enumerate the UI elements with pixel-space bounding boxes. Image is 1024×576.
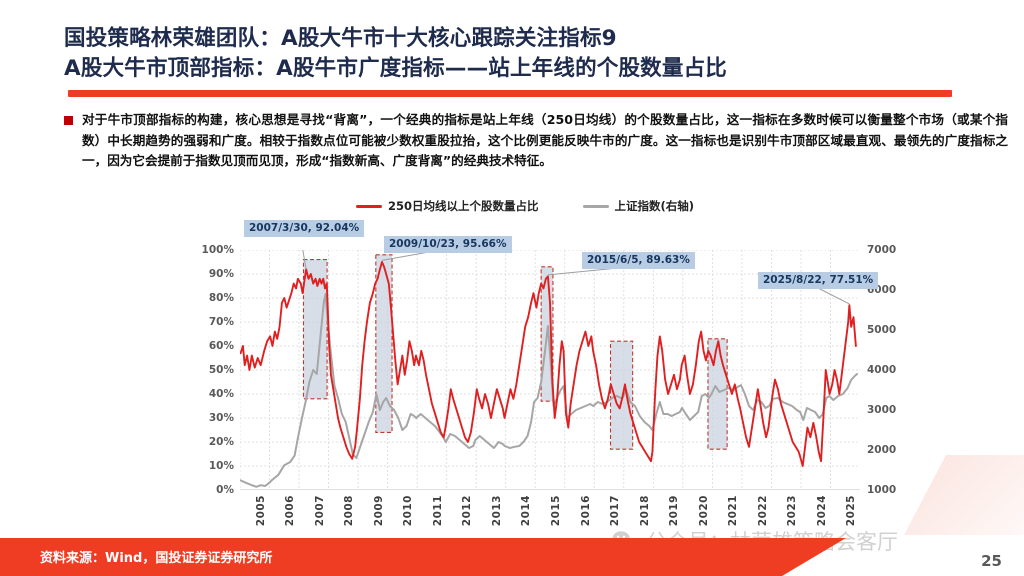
- x-tick-year: 2007: [314, 495, 326, 526]
- legend-label-index: 上证指数(右轴): [615, 198, 695, 214]
- y-tick-left: 60%: [209, 340, 234, 352]
- title-line-2: A股大牛市顶部指标：A股牛市广度指标——站上年线的个股数量占比: [64, 54, 1004, 84]
- chart-annotation: 2009/10/23, 95.66%: [384, 236, 512, 253]
- x-tick-year: 2024: [816, 495, 828, 526]
- square-bullet-icon: [64, 116, 73, 125]
- y-tick-right: 5000: [867, 324, 896, 336]
- plot-area: 0%10%20%30%40%50%60%70%80%90%100% 100020…: [240, 250, 860, 490]
- body-paragraph: 对于牛市顶部指标的构建，核心思想是寻找“背离”，一个经典的指标是站上年线（250…: [82, 110, 1008, 172]
- y-tick-right: 2000: [867, 444, 896, 456]
- x-tick-year: 2015: [550, 495, 562, 526]
- legend-item-index: 上证指数(右轴): [583, 198, 695, 214]
- body-paragraph-row: 对于牛市顶部指标的构建，核心思想是寻找“背离”，一个经典的指标是站上年线（250…: [64, 110, 1008, 172]
- x-tick-year: 2025: [845, 495, 857, 526]
- legend-swatch-index: [583, 205, 609, 208]
- y-tick-right: 3000: [867, 404, 896, 416]
- x-tick-year: 2012: [461, 495, 473, 526]
- x-tick-year: 2008: [343, 495, 355, 526]
- page-title: 国投策略林荣雄团队：A股大牛市十大核心跟踪关注指标9 A股大牛市顶部指标：A股牛…: [64, 24, 1004, 84]
- x-tick-year: 2014: [520, 495, 532, 526]
- y-tick-left: 40%: [209, 388, 234, 400]
- x-tick-year: 2013: [491, 495, 503, 526]
- x-tick-year: 2006: [284, 495, 296, 526]
- x-tick-year: 2019: [668, 495, 680, 526]
- y-tick-left: 90%: [209, 268, 234, 280]
- chart-annotation: 2015/6/5, 89.63%: [582, 252, 695, 269]
- y-tick-left: 20%: [209, 436, 234, 448]
- y-tick-left: 100%: [202, 244, 234, 256]
- x-tick-year: 2011: [432, 495, 444, 526]
- y-tick-left: 10%: [209, 460, 234, 472]
- legend-label-breadth: 250日均线以上个股数量占比: [388, 198, 539, 214]
- x-tick-year: 2009: [373, 495, 385, 526]
- y-tick-right: 4000: [867, 364, 896, 376]
- chart-annotation: 2025/8/22, 77.51%: [758, 272, 878, 289]
- chart-annotation: 2007/3/30, 92.04%: [244, 220, 364, 237]
- title-line-1: 国投策略林荣雄团队：A股大牛市十大核心跟踪关注指标9: [64, 24, 1004, 54]
- y-tick-right: 1000: [867, 484, 896, 496]
- title-underline: [68, 90, 952, 97]
- chart-legend: 250日均线以上个股数量占比 上证指数(右轴): [356, 198, 694, 214]
- y-tick-left: 50%: [209, 364, 234, 376]
- y-tick-left: 0%: [216, 484, 234, 496]
- x-tick-year: 2023: [786, 495, 798, 526]
- slide-root: 国投策略林荣雄团队：A股大牛市十大核心跟踪关注指标9 A股大牛市顶部指标：A股牛…: [0, 0, 1024, 576]
- y-tick-left: 70%: [209, 316, 234, 328]
- legend-item-breadth: 250日均线以上个股数量占比: [356, 198, 539, 214]
- x-tick-year: 2022: [757, 495, 769, 526]
- y-tick-left: 30%: [209, 412, 234, 424]
- page-number: 25: [981, 552, 1002, 570]
- x-tick-year: 2005: [255, 495, 267, 526]
- y-tick-left: 80%: [209, 292, 234, 304]
- x-tick-year: 2021: [727, 495, 739, 526]
- x-tick-year: 2020: [698, 495, 710, 526]
- source-text: 资料来源：Wind，国投证券证券研究所: [40, 547, 272, 566]
- breadth-chart: 250日均线以上个股数量占比 上证指数(右轴) 0%10%20%30%40%50…: [196, 198, 936, 528]
- x-tick-year: 2010: [402, 495, 414, 526]
- x-tick-year: 2016: [580, 495, 592, 526]
- x-tick-year: 2017: [609, 495, 621, 526]
- legend-swatch-breadth: [356, 205, 382, 208]
- x-tick-year: 2018: [639, 495, 651, 526]
- y-tick-right: 7000: [867, 244, 896, 256]
